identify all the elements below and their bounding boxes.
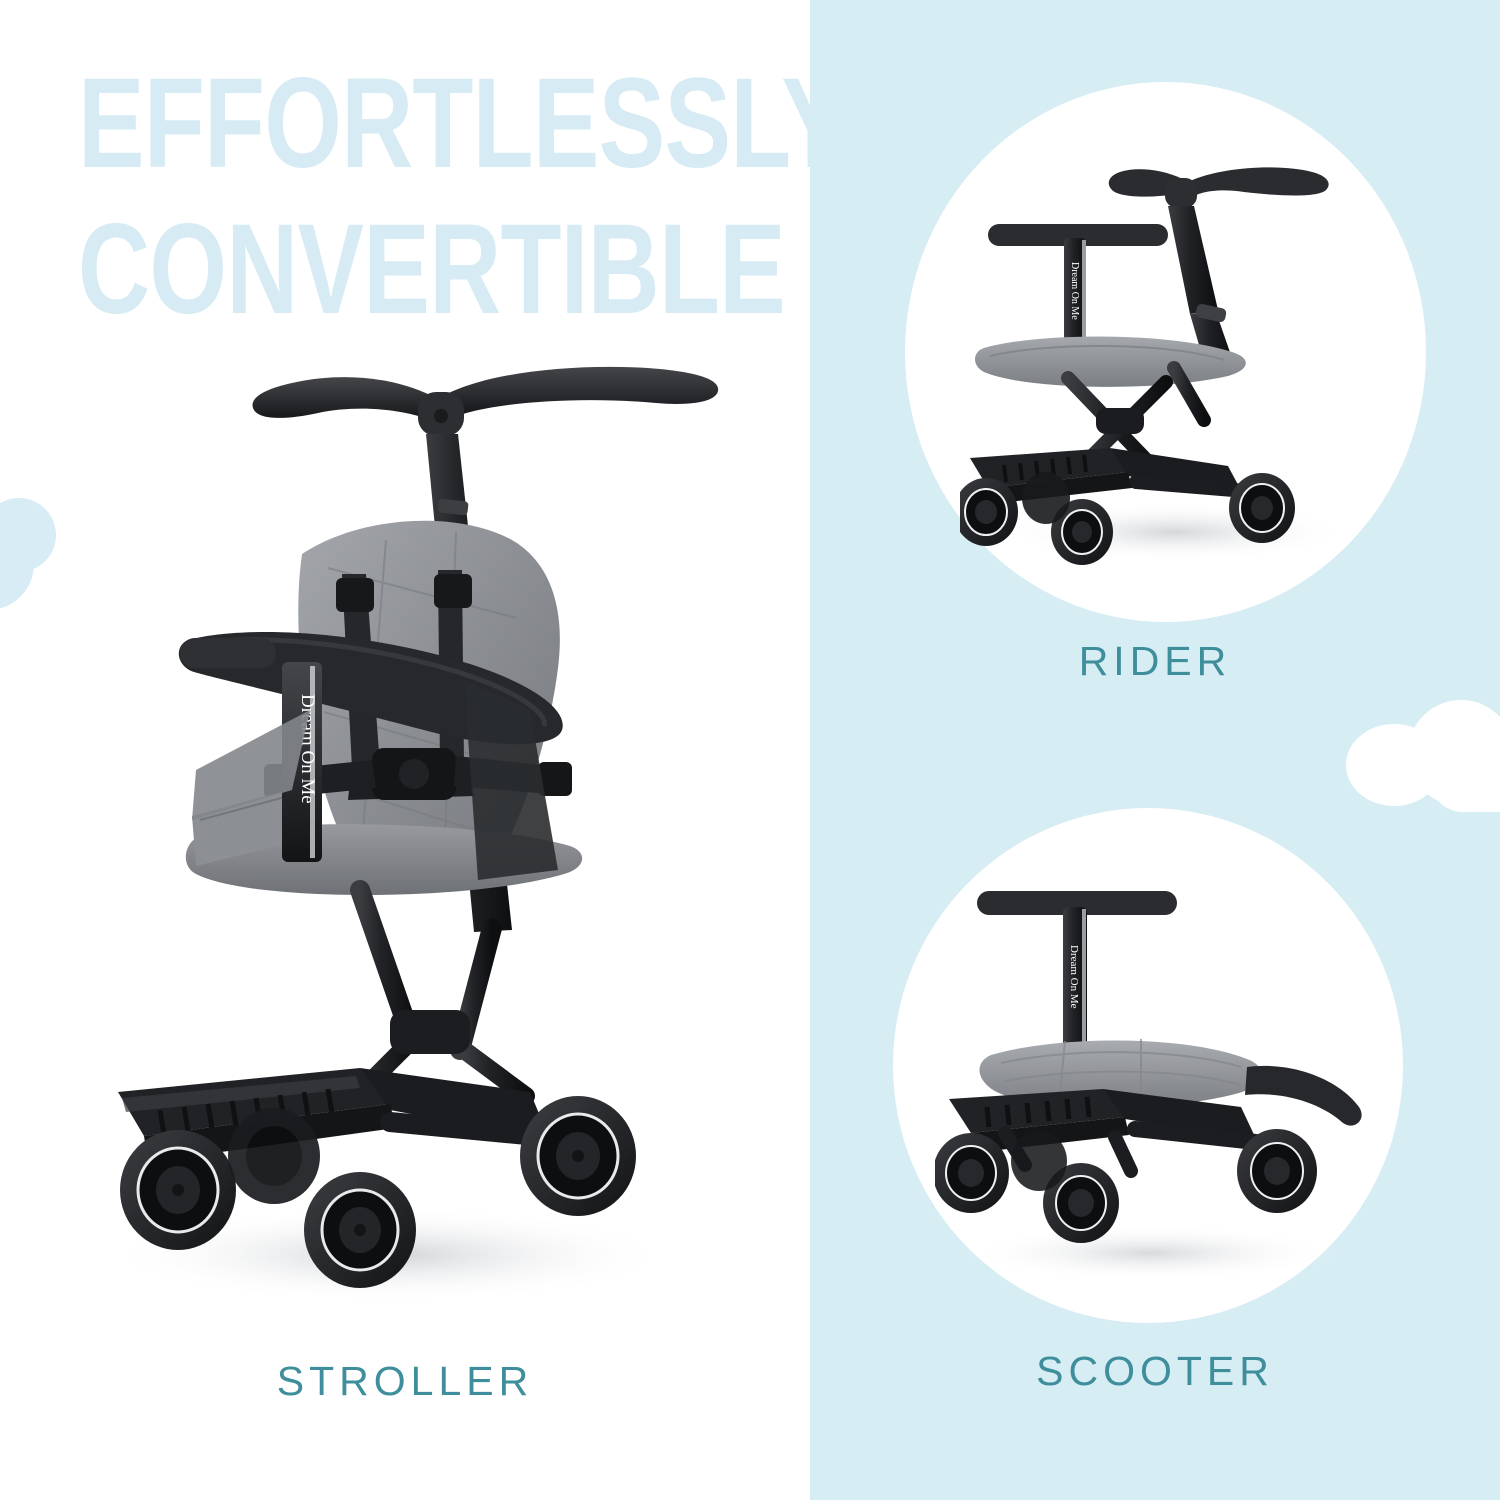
caption-stroller: STROLLER — [0, 1358, 810, 1405]
scooter-rear-handle — [1245, 1066, 1362, 1126]
brand-label-scooter: Dream On Me — [1068, 945, 1080, 1009]
rider-push-handle — [1109, 167, 1329, 362]
product-image-stroller: Dream On Me — [60, 350, 760, 1310]
product-feature-image: EFFORTLESSLY CONVERTIBLE — [0, 0, 1500, 1500]
rider-child-handle: Dream On Me — [988, 224, 1168, 350]
headline-line-1: EFFORTLESSLY — [78, 62, 671, 186]
brand-label-rider: Dream On Me — [1069, 262, 1080, 320]
left-panel: EFFORTLESSLY CONVERTIBLE — [0, 0, 810, 1500]
caption-scooter: SCOOTER — [810, 1348, 1500, 1395]
stroller-handle — [253, 367, 719, 436]
cloud-decoration-right — [1310, 700, 1500, 810]
headline-line-2: CONVERTIBLE — [78, 208, 671, 332]
headline: EFFORTLESSLY CONVERTIBLE — [78, 62, 810, 332]
product-image-scooter: Dream On Me — [935, 855, 1375, 1285]
scooter-child-handle: Dream On Me — [977, 891, 1177, 1055]
product-image-rider: Dream On Me — [960, 120, 1380, 570]
caption-rider: RIDER — [810, 638, 1500, 685]
